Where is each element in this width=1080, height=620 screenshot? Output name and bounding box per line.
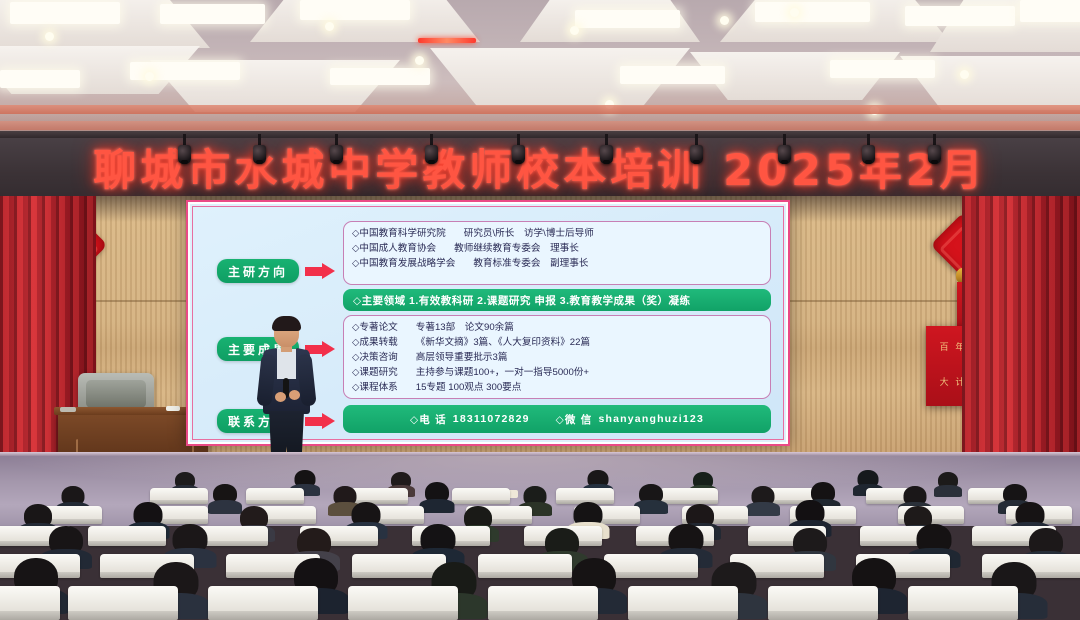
card-line: ◇中国成人教育协会 教师继续教育专委会 理事长 xyxy=(352,241,762,256)
tag-label: 主研方向 xyxy=(228,263,288,280)
desk-item xyxy=(60,407,76,412)
speaker-hand-right xyxy=(289,390,300,400)
card-line: ◇课题研究 主持参与课题100+，一对一指导5000份+ xyxy=(352,365,762,380)
wechat-value: shanyanghuzi123 xyxy=(598,413,704,425)
audience-person xyxy=(422,482,452,508)
card-line: ◇中国教育科学研究院 研究员\所长 访学\博士后导师 xyxy=(352,226,762,241)
speaker xyxy=(255,318,317,468)
arrow-icon xyxy=(305,263,335,279)
card-line: ◇课程体系 15专题 100观点 300要点 xyxy=(352,380,762,395)
card-line: ◇中国教育发展战略学会 教育标准专委会 副理事长 xyxy=(352,256,762,271)
auditorium-scene: 聊城市水城中学教师校本培训 2025年2月 入 教 学 育 百 年 大 计 xyxy=(0,0,1080,620)
slide-contact-bar: ◇电 话 18311072829 ◇微 信 shanyanghuzi123 xyxy=(343,405,771,433)
banner-text: 聊城市水城中学教师校本培训 2025年2月 xyxy=(0,138,1080,198)
card-line: ◇决策咨询 高层领导重要批示3篇 xyxy=(352,350,762,365)
slide-card-affiliations: ◇中国教育科学研究院 研究员\所长 访学\博士后导师 ◇中国成人教育协会 教师继… xyxy=(343,221,771,285)
phone-value: 18311072829 xyxy=(453,413,530,425)
desk-item xyxy=(166,406,180,411)
audience-person xyxy=(636,484,666,510)
speaker-shirt xyxy=(277,349,296,379)
speaker-hand-left xyxy=(275,392,286,402)
card-line: ◇专著论文 专著13部 论文90余篇 xyxy=(352,320,762,335)
stage-curtain-right xyxy=(962,196,1080,458)
card-line: ◇成果转载 《新华文摘》3篇、《人大复印资料》22篇 xyxy=(352,335,762,350)
speaker-hair xyxy=(272,316,301,331)
wechat-label: ◇微 信 xyxy=(556,412,593,427)
led-banner: 聊城市水城中学教师校本培训 2025年2月 xyxy=(0,138,1080,198)
slide-greenbar-main-fields: ◇主要领域 1.有效教科研 2.课题研究 申报 3.教育教学成果（奖）凝练 xyxy=(343,289,771,311)
audience xyxy=(0,470,1080,620)
phone-label: ◇电 话 xyxy=(410,412,447,427)
slide-card-achievements: ◇专著论文 专著13部 论文90余篇 ◇成果转载 《新华文摘》3篇、《人大复印资… xyxy=(343,315,771,399)
slide-tag-research-direction: 主研方向 xyxy=(217,259,299,283)
podium-inlay xyxy=(76,430,194,454)
audience-person xyxy=(748,486,778,512)
audience-person xyxy=(935,472,961,494)
ceiling xyxy=(0,0,1080,132)
